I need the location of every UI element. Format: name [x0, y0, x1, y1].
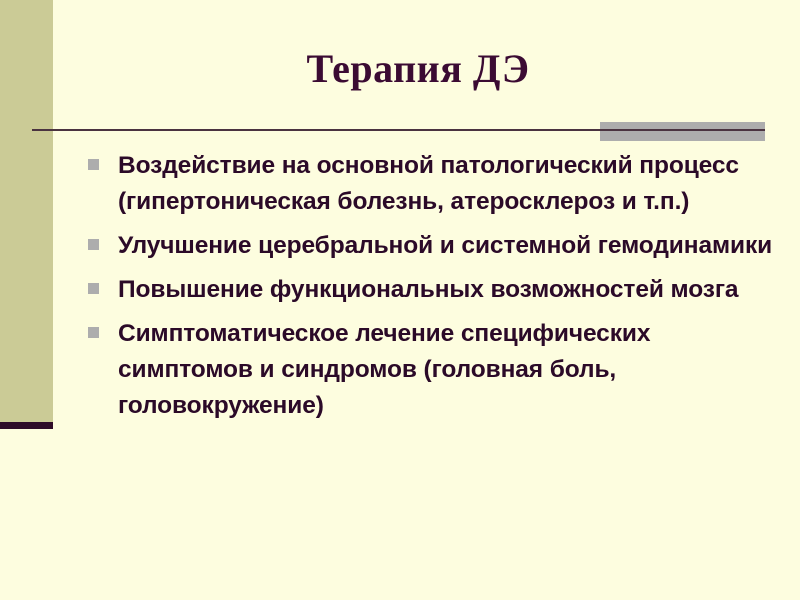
left-decorative-band [0, 0, 53, 422]
list-item: Улучшение церебральной и системной гемод… [84, 228, 784, 264]
list-item: Повышение функциональных возможностей мо… [84, 272, 784, 308]
slide-title: Терапия ДЭ [53, 44, 783, 94]
square-bullet-icon [88, 327, 99, 338]
bullet-list: Воздействие на основной патологический п… [84, 148, 784, 432]
divider-gray-swatch [600, 122, 765, 141]
left-band-footer-stripe [0, 422, 53, 429]
list-item: Симптоматическое лечение специфических с… [84, 316, 784, 424]
square-bullet-icon [88, 283, 99, 294]
list-item-text: Воздействие на основной патологический п… [118, 148, 784, 220]
square-bullet-icon [88, 159, 99, 170]
divider-rule-line [32, 129, 765, 131]
slide-canvas: Терапия ДЭ Воздействие на основной патол… [0, 0, 800, 600]
square-bullet-icon [88, 239, 99, 250]
list-item-text: Повышение функциональных возможностей мо… [118, 272, 784, 308]
list-item-text: Симптоматическое лечение специфических с… [118, 316, 784, 424]
list-item-text: Улучшение церебральной и системной гемод… [118, 228, 784, 264]
title-divider [0, 118, 800, 144]
list-item: Воздействие на основной патологический п… [84, 148, 784, 220]
